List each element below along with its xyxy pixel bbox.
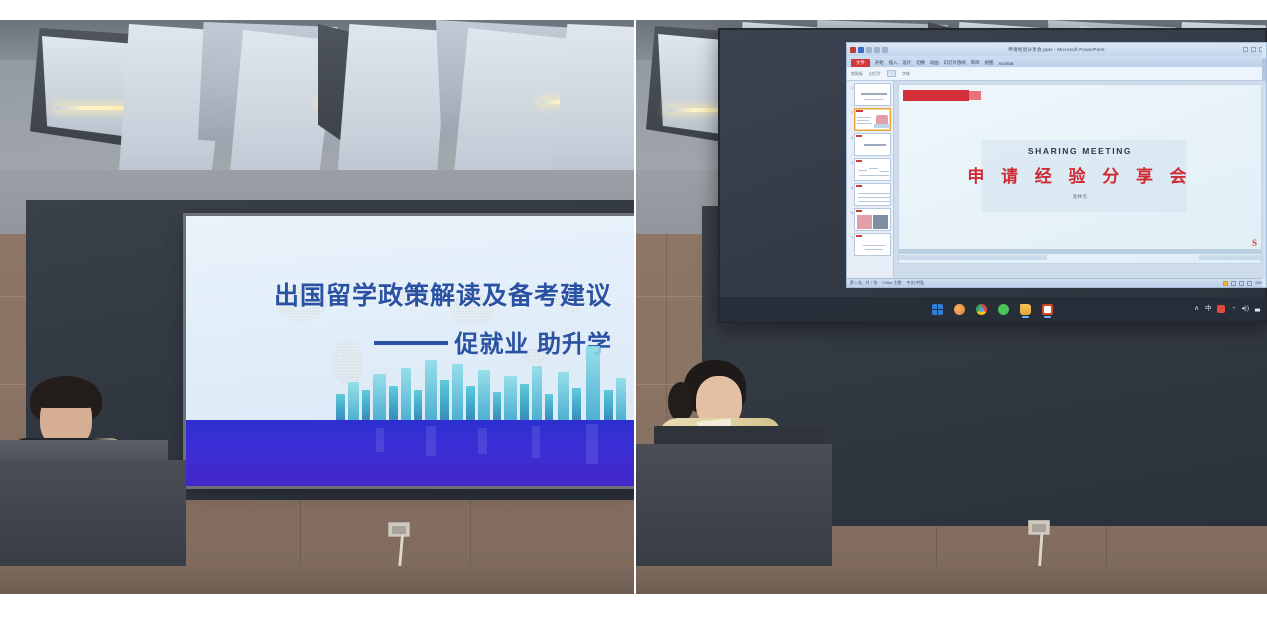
slide-accent-bar: [903, 90, 969, 101]
minimize-icon[interactable]: [1243, 47, 1248, 52]
windows-taskbar[interactable]: [720, 297, 1265, 321]
ribbon-group-clipboard[interactable]: 剪贴板: [851, 71, 863, 77]
view-slideshow-icon[interactable]: [1247, 281, 1252, 286]
view-normal-icon[interactable]: [1223, 281, 1228, 286]
projection-screen-left: 出国留学政策解读及备考建议 促就业 助升学: [186, 216, 634, 486]
volume-icon[interactable]: ◂)): [1241, 306, 1249, 313]
view-sorter-icon[interactable]: [1231, 281, 1236, 286]
slide-thumbnail-pane[interactable]: 1 2: [847, 81, 894, 278]
theme-name: "Office 主题": [881, 281, 902, 286]
slide-thumbnail-preview[interactable]: [854, 233, 891, 256]
floor-right: [636, 566, 1267, 594]
language: 中文(中国): [907, 281, 925, 286]
windows-desktop: 申请经验分享会.pptx - Microsoft PowerPoint 文件 开…: [720, 30, 1265, 321]
slide-blue-band: [186, 420, 634, 486]
ribbon-tab-file[interactable]: 文件: [851, 59, 870, 68]
floor-left: [0, 566, 634, 594]
ime-icon[interactable]: 中: [1205, 306, 1212, 313]
lecture-room-right: 申请经验分享会.pptx - Microsoft PowerPoint 文件 开…: [636, 20, 1267, 594]
city-skyline-graphic: [186, 342, 634, 420]
slide-thumbnail-selected[interactable]: 2: [849, 108, 891, 131]
ribbon-tab-review[interactable]: 审阅: [971, 60, 980, 68]
window-controls[interactable]: [1243, 47, 1264, 52]
view-reading-icon[interactable]: [1239, 281, 1244, 286]
ppt-document-title: 申请经验分享会.pptx - Microsoft PowerPoint: [847, 47, 1266, 53]
wall-outlet-right: [1028, 520, 1050, 535]
screenshot-root: 出国留学政策解读及备考建议 促就业 助升学: [0, 0, 1267, 634]
slide-canvas[interactable]: SHARING MEETING 申 请 经 验 分 享 会 温林杰 ······: [898, 84, 1262, 264]
slide-thumbnail[interactable]: 3: [849, 133, 891, 156]
slide-footer-band: [899, 249, 1261, 254]
ceiling-left: [0, 20, 634, 192]
slide-thumbnail-preview[interactable]: [854, 133, 891, 156]
slide-thumbnail[interactable]: 1: [849, 83, 891, 106]
battery-icon[interactable]: ▃: [1255, 306, 1260, 313]
file-explorer-icon[interactable]: [1020, 304, 1031, 315]
wall-outlet-left: [388, 522, 410, 537]
ribbon-group-font[interactable]: 字体: [902, 71, 910, 77]
ribbon-tab-insert[interactable]: 插入: [889, 60, 898, 68]
slide-thumbnail-preview[interactable]: [854, 108, 891, 131]
sogou-icon[interactable]: [1217, 305, 1225, 313]
maximize-icon[interactable]: [1251, 47, 1256, 52]
slide-thumbnail[interactable]: 7: [849, 233, 891, 256]
slide-counter: 第 1 张，共 7 张: [850, 281, 877, 286]
wechat-icon[interactable]: [998, 304, 1009, 315]
slide-headline-text: 申 请 经 验 分 享 会: [899, 162, 1261, 187]
ribbon-tab-animations[interactable]: 动画: [930, 60, 939, 68]
ribbon-tab-strip[interactable]: 文件 开始 插入 设计 切换 动画 幻灯片放映 审阅 视图 Acrobat: [847, 56, 1266, 67]
ribbon-tab-view[interactable]: 视图: [985, 60, 994, 68]
ppt-workspace: 1 2: [847, 81, 1266, 278]
slide-thumbnail-preview[interactable]: [854, 183, 891, 206]
edge-icon[interactable]: [954, 304, 965, 315]
ppt-title-bar[interactable]: 申请经验分享会.pptx - Microsoft PowerPoint: [847, 43, 1266, 56]
ribbon-group-slides[interactable]: 幻灯片: [869, 71, 881, 77]
slide-thumbnail[interactable]: 6: [849, 208, 891, 231]
slide-byline-text: 温林杰: [899, 194, 1261, 200]
slide-title: 出国留学政策解读及备考建议: [186, 276, 612, 312]
lecture-room-left: 出国留学政策解读及备考建议 促就业 助升学: [0, 20, 634, 594]
ribbon-body[interactable]: 剪贴板 幻灯片 字体: [847, 67, 1266, 81]
powerpoint-icon[interactable]: [1042, 304, 1053, 315]
slide-thumbnail[interactable]: 5: [849, 183, 891, 206]
chevron-up-icon[interactable]: ∧: [1194, 306, 1199, 313]
slide-editor-pane[interactable]: SHARING MEETING 申 请 经 验 分 享 会 温林杰 ······: [894, 81, 1266, 278]
slide-thumbnail[interactable]: 4: [849, 158, 891, 181]
system-tray[interactable]: ∧ 中 ◔ ◂)) ▃: [1194, 297, 1260, 321]
slide-footer-marks: ······: [1183, 257, 1255, 261]
photo-left: 出国留学政策解读及备考建议 促就业 助升学: [0, 20, 634, 594]
status-bar-controls[interactable]: 66%: [1223, 281, 1263, 286]
ribbon-tab-slideshow[interactable]: 幻灯片放映: [944, 60, 966, 68]
slide-footer-left-band: [899, 255, 1047, 260]
wall-display: 申请经验分享会.pptx - Microsoft PowerPoint 文件 开…: [718, 28, 1267, 323]
slide-eyebrow-text: SHARING MEETING: [899, 146, 1261, 156]
chrome-icon[interactable]: [976, 304, 987, 315]
ribbon-tab-home[interactable]: 开始: [875, 60, 884, 68]
ribbon-gallery-chip[interactable]: [887, 70, 896, 77]
sogou-watermark-icon: S: [1252, 238, 1257, 248]
slide-thumbnail-preview[interactable]: [854, 83, 891, 106]
ppt-status-bar[interactable]: 第 1 张，共 7 张 "Office 主题" 中文(中国) 66%: [847, 278, 1266, 287]
slide-thumbnail-preview[interactable]: [854, 208, 891, 231]
start-icon[interactable]: [932, 304, 943, 315]
slide-thumbnail-preview[interactable]: [854, 158, 891, 181]
powerpoint-window[interactable]: 申请经验分享会.pptx - Microsoft PowerPoint 文件 开…: [846, 42, 1267, 288]
ribbon-tab-design[interactable]: 设计: [902, 60, 911, 68]
photo-right: 申请经验分享会.pptx - Microsoft PowerPoint 文件 开…: [636, 20, 1267, 594]
status-bar-info: 第 1 张，共 7 张 "Office 主题" 中文(中国): [850, 281, 924, 286]
network-icon[interactable]: ◔: [1231, 306, 1235, 313]
ribbon-tab-transitions[interactable]: 切换: [916, 60, 925, 68]
